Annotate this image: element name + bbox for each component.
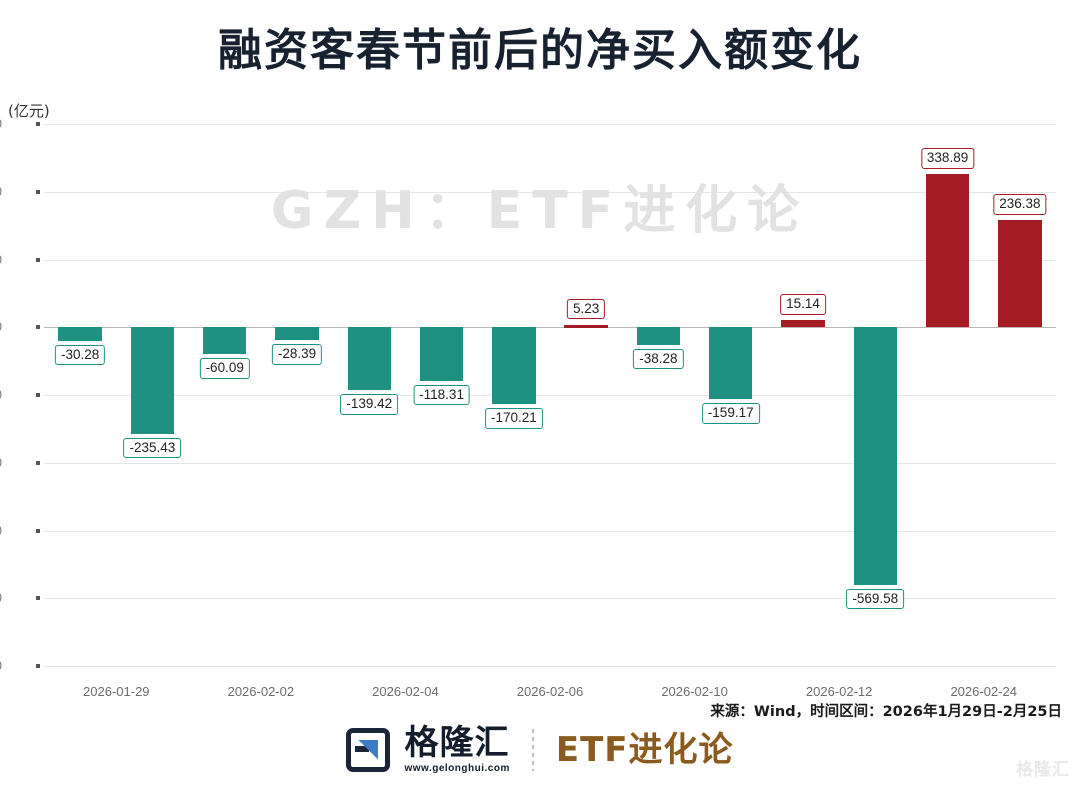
y-axis-tick-mark — [36, 664, 40, 668]
y-axis-tick-mark — [36, 596, 40, 600]
y-axis-tick-label: -600 — [0, 590, 2, 605]
bar[interactable] — [131, 327, 174, 433]
gridline — [44, 192, 1056, 193]
brand-name-block: 格隆汇 www.gelonghui.com — [404, 726, 509, 774]
y-axis-tick-mark — [36, 122, 40, 126]
gridline — [44, 463, 1056, 464]
bar-value-label: -235.43 — [124, 438, 182, 459]
bar[interactable] — [709, 327, 752, 399]
x-axis-tick-label: 2026-02-12 — [806, 684, 873, 699]
bar-value-label: 5.23 — [567, 299, 605, 320]
bar[interactable] — [492, 327, 535, 404]
bar-value-label: -30.28 — [55, 345, 105, 366]
zero-axis-line — [44, 327, 1056, 328]
bar-value-label: -139.42 — [340, 394, 398, 415]
y-axis-tick-mark — [36, 258, 40, 262]
bar[interactable] — [637, 327, 680, 344]
y-axis-tick-mark — [36, 461, 40, 465]
x-axis-tick-label: 2026-01-29 — [83, 684, 150, 699]
bar-value-label: 15.14 — [780, 294, 826, 315]
y-axis-tick-label: -150 — [0, 387, 2, 402]
gridline — [44, 598, 1056, 599]
bar-value-label: -569.58 — [846, 589, 904, 610]
x-axis-tick-label: 2026-02-10 — [661, 684, 728, 699]
bar-value-label: -118.31 — [413, 385, 470, 406]
gridline — [44, 395, 1056, 396]
page-title: 融资客春节前后的净买入额变化 — [0, 0, 1080, 77]
bar[interactable] — [203, 327, 246, 354]
bar[interactable] — [275, 327, 318, 340]
corner-watermark-logo: 格隆汇 — [1016, 755, 1070, 780]
x-axis-tick-label: 2026-02-04 — [372, 684, 439, 699]
bar[interactable] — [926, 174, 969, 327]
bar-value-label: -60.09 — [200, 358, 250, 379]
y-axis-tick-label: -450 — [0, 523, 2, 538]
gridline — [44, 260, 1056, 261]
source-note: 来源：Wind，时间区间：2026年1月29日-2月25日 — [710, 700, 1062, 721]
bar-value-label: 236.38 — [993, 194, 1046, 215]
y-axis-tick-label: -300 — [0, 455, 2, 470]
y-axis-tick-mark — [36, 325, 40, 329]
bar[interactable] — [998, 220, 1041, 327]
gridline — [44, 124, 1056, 125]
y-axis-tick-mark — [36, 529, 40, 533]
bar-value-label: -28.39 — [272, 344, 322, 365]
bar[interactable] — [781, 320, 824, 327]
bar-value-label: -159.17 — [702, 403, 760, 424]
brand-subtitle: ETF进化论 — [556, 733, 734, 767]
y-axis-tick-mark — [36, 393, 40, 397]
brand-url: www.gelonghui.com — [404, 763, 509, 774]
y-axis-unit-label: (亿元) — [8, 100, 50, 121]
y-axis-tick-label: 150 — [0, 252, 2, 267]
x-axis-tick-label: 2026-02-02 — [228, 684, 295, 699]
bar[interactable] — [854, 327, 897, 584]
brand-name: 格隆汇 — [404, 726, 509, 760]
gridline — [44, 666, 1056, 667]
bar-value-label: 338.89 — [921, 148, 974, 169]
y-axis-tick-label: 300 — [0, 184, 2, 199]
x-axis-tick-label: 2026-02-06 — [517, 684, 584, 699]
footer-logo: 格隆汇 www.gelonghui.com ETF进化论 — [0, 726, 1080, 774]
gelonghui-logo-icon — [346, 728, 390, 772]
y-axis-tick-label: -750 — [0, 658, 2, 673]
bar[interactable] — [58, 327, 101, 341]
y-axis-tick-label: 450 — [0, 116, 2, 131]
bar[interactable] — [348, 327, 391, 390]
bar-value-label: -170.21 — [485, 408, 543, 429]
y-axis-tick-mark — [36, 190, 40, 194]
y-axis-tick-label: 0 — [0, 319, 2, 334]
x-axis-tick-label: 2026-02-24 — [950, 684, 1017, 699]
chart-plot-wrapper: (亿元) 4503001500-150-300-450-600-750 -30.… — [0, 110, 1080, 670]
chart-plot-area: 4503001500-150-300-450-600-750 -30.28-23… — [44, 124, 1056, 666]
bar[interactable] — [564, 325, 607, 328]
bar-value-label: -38.28 — [633, 349, 683, 370]
gridline — [44, 531, 1056, 532]
logo-divider — [532, 729, 534, 771]
bar[interactable] — [420, 327, 463, 380]
